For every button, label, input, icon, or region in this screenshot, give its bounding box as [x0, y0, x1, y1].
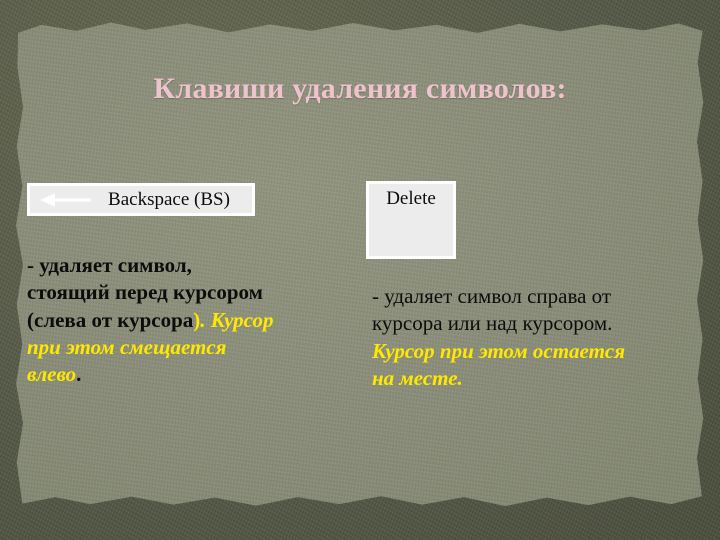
delete-key-label: Delete: [369, 189, 453, 210]
arrow-left-icon: [40, 193, 92, 207]
delete-key-box: Delete: [366, 181, 456, 259]
slide-canvas: Клавиши удаления символов: Backspace (BS…: [0, 0, 720, 540]
delete-description-plain: - удаляет символ справа от курсора или н…: [372, 284, 612, 335]
backspace-key-box: Backspace (BS): [27, 183, 255, 216]
backspace-description: - удаляет символ, стоящий перед курсором…: [27, 252, 279, 388]
slide-title: Клавиши удаления символов:: [0, 72, 720, 106]
delete-description: - удаляет символ справа от курсора или н…: [372, 283, 634, 392]
delete-description-emphasis: Курсор при этом остается на месте.: [372, 339, 625, 390]
backspace-key-label: Backspace (BS): [96, 190, 246, 209]
backspace-description-tail: .: [76, 362, 81, 386]
